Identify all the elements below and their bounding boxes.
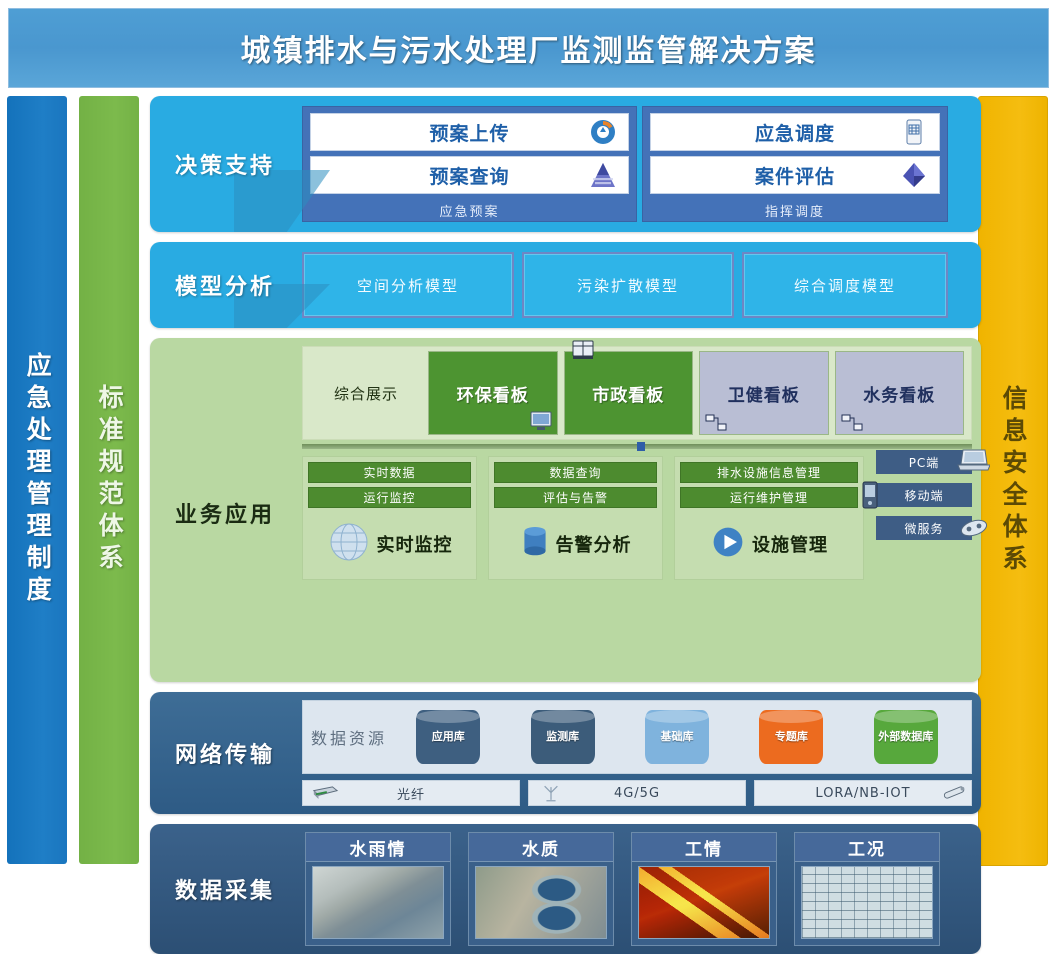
model-box-dispatch-label: 综合调度模型 [794,275,896,296]
collect-card-working-condition-title: 工况 [795,833,939,862]
transmission-channel-list: 光纤 4G/5G LORA/NB-IOT [302,780,972,806]
database-foundation[interactable]: 基础库 [645,710,709,764]
channel-lora-label: LORA/NB-IOT [815,786,910,801]
channel-cellular[interactable]: 4G/5G [528,780,746,806]
decision-item-plan-upload[interactable]: 预案上传 [310,113,629,151]
business-feature-facility-management[interactable]: 设施管理 [675,517,863,571]
collect-card-engineering-title: 工情 [632,833,776,862]
band-data-collection-label: 数据采集 [150,824,300,954]
terminal-pc-label: PC端 [909,454,940,471]
sidebar-emergency-management-label: 应急处理管理制度 [24,352,50,608]
business-tag-assessment-alarm[interactable]: 评估与告警 [494,487,657,508]
collect-card-rainfall-title: 水雨情 [306,833,450,862]
collect-card-working-condition[interactable]: 工况 [794,832,940,946]
antenna-icon [541,784,567,802]
database-icon [520,523,550,565]
kanban-health[interactable]: 卫健看板 [699,351,829,435]
collect-card-engineering-photo [638,866,770,939]
architecture-stack: 决策支持 预案上传 预案查询 [150,96,981,864]
sidebar-standards-system: 标准规范体系 [79,96,139,864]
business-divider [302,444,972,449]
data-resource-row: 数据资源 应用库 监测库 基础库 专题库 外部数据库 [302,700,972,774]
page-title-bar: 城镇排水与污水处理厂监测监管解决方案 [8,8,1049,88]
channel-fiber[interactable]: 光纤 [302,780,520,806]
page-title: 城镇排水与污水处理厂监测监管解决方案 [241,26,817,70]
diamond-icon [899,160,929,190]
decision-item-case-evaluation-label: 案件评估 [755,162,835,189]
business-column-facility: 排水设施信息管理 运行维护管理 设施管理 [674,456,864,580]
divider-knob [637,442,645,451]
terminal-microservice-label: 微服务 [904,520,943,537]
kanban-municipal-label: 市政看板 [592,381,664,406]
decision-item-plan-query[interactable]: 预案查询 [310,156,629,194]
terminal-pc[interactable]: PC端 [876,450,972,474]
band-business-application-label: 业务应用 [150,428,300,598]
business-dashboard-row: 综合展示 环保看板 市政看板 [302,346,972,440]
sidebar-emergency-management: 应急处理管理制度 [7,96,67,864]
decision-group-emergency-plan-caption: 应急预案 [310,199,629,221]
kanban-environment-label: 环保看板 [457,381,529,406]
business-tag-drainage-facility-info[interactable]: 排水设施信息管理 [680,462,858,483]
decision-item-emergency-dispatch-label: 应急调度 [755,119,835,146]
business-column-alarm: 数据查询 评估与告警 告警分析 [488,456,663,580]
business-feature-realtime-monitor-label: 实时监控 [377,531,453,557]
business-display-label: 综合展示 [307,351,425,435]
monitor-icon [529,410,551,430]
band-model-analysis: 模型分析 空间分析模型 污染扩散模型 综合调度模型 [150,242,981,328]
model-box-dispatch[interactable]: 综合调度模型 [742,252,948,318]
kanban-municipal[interactable]: 市政看板 [564,351,694,435]
service-device-icon [958,514,988,536]
recycle-circle-icon [588,117,618,147]
database-thematic-label: 专题库 [775,731,808,744]
business-feature-alarm-analysis[interactable]: 告警分析 [489,517,662,571]
terminal-microservice[interactable]: 微服务 [876,516,972,540]
business-tag-operation-monitoring[interactable]: 运行监控 [308,487,471,508]
database-foundation-label: 基础库 [660,731,693,744]
business-column-monitoring: 实时数据 运行监控 实时监控 [302,456,477,580]
decision-item-plan-upload-label: 预案上传 [429,119,509,146]
sidebar-information-security-label: 信息安全体系 [1000,385,1026,577]
terminal-list: PC端 移动端 [876,450,972,549]
channel-lora[interactable]: LORA/NB-IOT [754,780,972,806]
network-icon [840,412,862,432]
decision-group-command-dispatch: 应急调度 案件评估 [642,106,948,222]
calculator-icon [899,117,929,147]
channel-cellular-label: 4G/5G [614,786,660,801]
decision-item-emergency-dispatch[interactable]: 应急调度 [650,113,940,151]
decision-item-case-evaluation[interactable]: 案件评估 [650,156,940,194]
fiber-switch-icon [311,784,337,802]
band-data-collection: 数据采集 水雨情 水质 工情 工况 [150,824,981,954]
kanban-health-label: 卫健看板 [728,381,800,406]
sensor-icon [941,784,967,802]
collect-card-water-quality-photo [475,866,607,939]
collect-card-working-condition-photo [801,866,933,939]
collect-card-water-quality-title: 水质 [469,833,613,862]
business-tag-realtime-data[interactable]: 实时数据 [308,462,471,483]
database-application[interactable]: 应用库 [416,710,480,764]
business-tag-operation-maintenance[interactable]: 运行维护管理 [680,487,858,508]
database-application-label: 应用库 [432,731,465,744]
channel-fiber-label: 光纤 [397,784,425,803]
terminal-mobile-label: 移动端 [904,487,943,504]
business-tag-data-query[interactable]: 数据查询 [494,462,657,483]
collect-card-rainfall[interactable]: 水雨情 [305,832,451,946]
kanban-water-affairs-label: 水务看板 [863,381,935,406]
database-monitoring-label: 监测库 [546,731,579,744]
band-model-analysis-label: 模型分析 [150,242,300,328]
database-thematic[interactable]: 专题库 [759,710,823,764]
model-box-pollution[interactable]: 污染扩散模型 [522,252,734,318]
band-decision-support: 决策支持 预案上传 预案查询 [150,96,981,232]
sidebar-standards-system-label: 标准规范体系 [96,384,122,576]
database-external[interactable]: 外部数据库 [874,710,938,764]
database-monitoring[interactable]: 监测库 [531,710,595,764]
collect-card-water-quality[interactable]: 水质 [468,832,614,946]
band-network-transmission: 网络传输 数据资源 应用库 监测库 基础库 专题库 外部数据库 [150,692,981,814]
business-feature-facility-management-label: 设施管理 [752,531,828,557]
collect-card-rainfall-photo [312,866,444,939]
business-feature-realtime-monitor[interactable]: 实时监控 [303,517,476,571]
globe-icon [327,520,371,568]
band-business-application: 业务应用 综合展示 环保看板 市政看板 [150,338,981,682]
band-network-transmission-label: 网络传输 [150,692,300,814]
database-list: 应用库 监测库 基础库 专题库 外部数据库 [391,710,963,764]
mobile-icon [858,480,888,502]
database-external-label: 外部数据库 [878,731,933,744]
pyramid-icon [588,160,618,190]
model-box-pollution-label: 污染扩散模型 [577,275,679,296]
network-icon [704,412,726,432]
model-box-spatial-label: 空间分析模型 [357,275,459,296]
decision-group-emergency-plan: 预案上传 预案查询 [302,106,637,222]
collect-card-engineering[interactable]: 工情 [631,832,777,946]
kanban-water-affairs[interactable]: 水务看板 [835,351,965,435]
terminal-mobile[interactable]: 移动端 [876,483,972,507]
play-icon [710,524,746,564]
laptop-icon [956,447,986,469]
band-decision-support-label: 决策支持 [150,96,300,232]
decision-item-plan-query-label: 预案查询 [429,162,509,189]
data-resource-label: 数据资源 [311,725,387,749]
kanban-environment[interactable]: 环保看板 [428,351,558,435]
decision-group-command-dispatch-caption: 指挥调度 [650,199,940,221]
business-feature-alarm-analysis-label: 告警分析 [556,531,632,557]
sidebar-information-security: 信息安全体系 [978,96,1048,866]
model-box-spatial[interactable]: 空间分析模型 [302,252,514,318]
window-icon [571,340,593,360]
